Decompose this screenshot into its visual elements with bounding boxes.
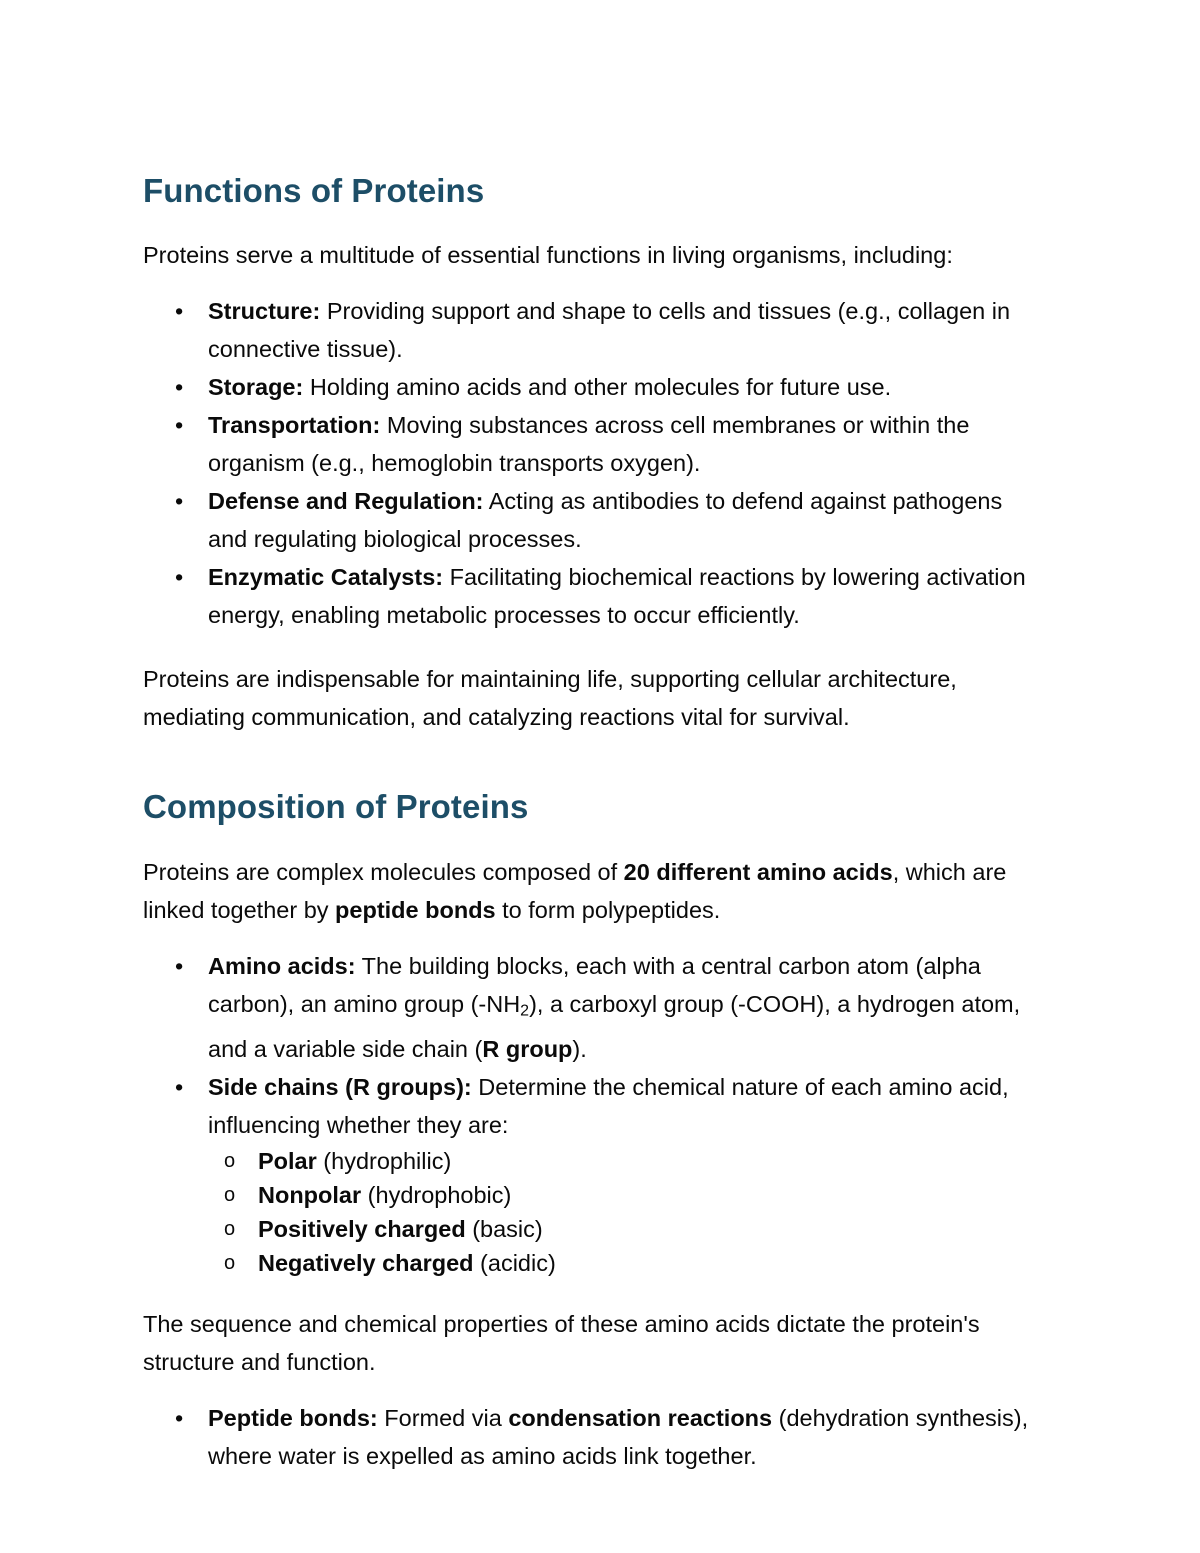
list-item: Storage: Holding amino acids and other m… (143, 368, 1045, 406)
page-title: Functions of Proteins (143, 172, 1045, 210)
bullet-term: Transportation: (208, 412, 380, 438)
side-chain-sub-list: Polar (hydrophilic) Nonpolar (hydrophobi… (208, 1144, 1045, 1280)
sub-bullet-text: (hydrophilic) (317, 1148, 452, 1174)
list-item-amino-acids: Amino acids: The building blocks, each w… (143, 947, 1045, 1069)
bullet-text-part3: ). (572, 1036, 586, 1062)
bullet-term: Side chains (R groups): (208, 1074, 472, 1100)
composition-closing-paragraph: The sequence and chemical properties of … (143, 1305, 1045, 1381)
intro-part-e: to form polypeptides. (496, 897, 721, 923)
intro-part-a: Proteins are complex molecules composed … (143, 859, 624, 885)
intro-bold-amino-acids: 20 different amino acids (624, 859, 893, 885)
intro-bold-peptide-bonds: peptide bonds (335, 897, 496, 923)
subscript-two: 2 (520, 1002, 529, 1019)
bullet-bold-r-group: R group (482, 1036, 572, 1062)
bullet-text: Holding amino acids and other molecules … (303, 374, 891, 400)
functions-bullet-list: Structure: Providing support and shape t… (143, 292, 1045, 634)
sub-list-item: Negatively charged (acidic) (208, 1246, 1045, 1280)
bullet-text: Providing support and shape to cells and… (208, 298, 1010, 362)
bullet-term: Peptide bonds: (208, 1405, 378, 1431)
bullet-term: Enzymatic Catalysts: (208, 564, 443, 590)
bullet-term: Defense and Regulation: (208, 488, 484, 514)
sub-bullet-term: Positively charged (258, 1216, 466, 1242)
sub-list-item: Polar (hydrophilic) (208, 1144, 1045, 1178)
document-page: Functions of Proteins Proteins serve a m… (0, 0, 1200, 1553)
sub-bullet-text: (hydrophobic) (361, 1182, 511, 1208)
functions-intro-paragraph: Proteins serve a multitude of essential … (143, 236, 1045, 274)
bullet-term: Structure: (208, 298, 320, 324)
list-item: Enzymatic Catalysts: Facilitating bioche… (143, 558, 1045, 634)
sub-bullet-term: Negatively charged (258, 1250, 474, 1276)
peptide-bond-bullet-list: Peptide bonds: Formed via condensation r… (143, 1399, 1045, 1475)
bullet-text-part1: Formed via (378, 1405, 509, 1431)
list-item: Defense and Regulation: Acting as antibo… (143, 482, 1045, 558)
composition-heading: Composition of Proteins (143, 788, 1045, 826)
sub-bullet-term: Polar (258, 1148, 317, 1174)
list-item: Transportation: Moving substances across… (143, 406, 1045, 482)
bullet-term: Amino acids: (208, 953, 356, 979)
composition-bullet-list: Amino acids: The building blocks, each w… (143, 947, 1045, 1281)
list-item-side-chains: Side chains (R groups): Determine the ch… (143, 1068, 1045, 1280)
sub-bullet-text: (basic) (466, 1216, 543, 1242)
list-item-peptide-bonds: Peptide bonds: Formed via condensation r… (143, 1399, 1045, 1475)
sub-bullet-text: (acidic) (474, 1250, 556, 1276)
list-item: Structure: Providing support and shape t… (143, 292, 1045, 368)
sub-list-item: Nonpolar (hydrophobic) (208, 1178, 1045, 1212)
sub-list-item: Positively charged (basic) (208, 1212, 1045, 1246)
composition-intro-paragraph: Proteins are complex molecules composed … (143, 853, 1045, 929)
bullet-term: Storage: (208, 374, 303, 400)
bullet-bold-condensation: condensation reactions (508, 1405, 772, 1431)
sub-bullet-term: Nonpolar (258, 1182, 361, 1208)
functions-closing-paragraph: Proteins are indispensable for maintaini… (143, 660, 1045, 736)
